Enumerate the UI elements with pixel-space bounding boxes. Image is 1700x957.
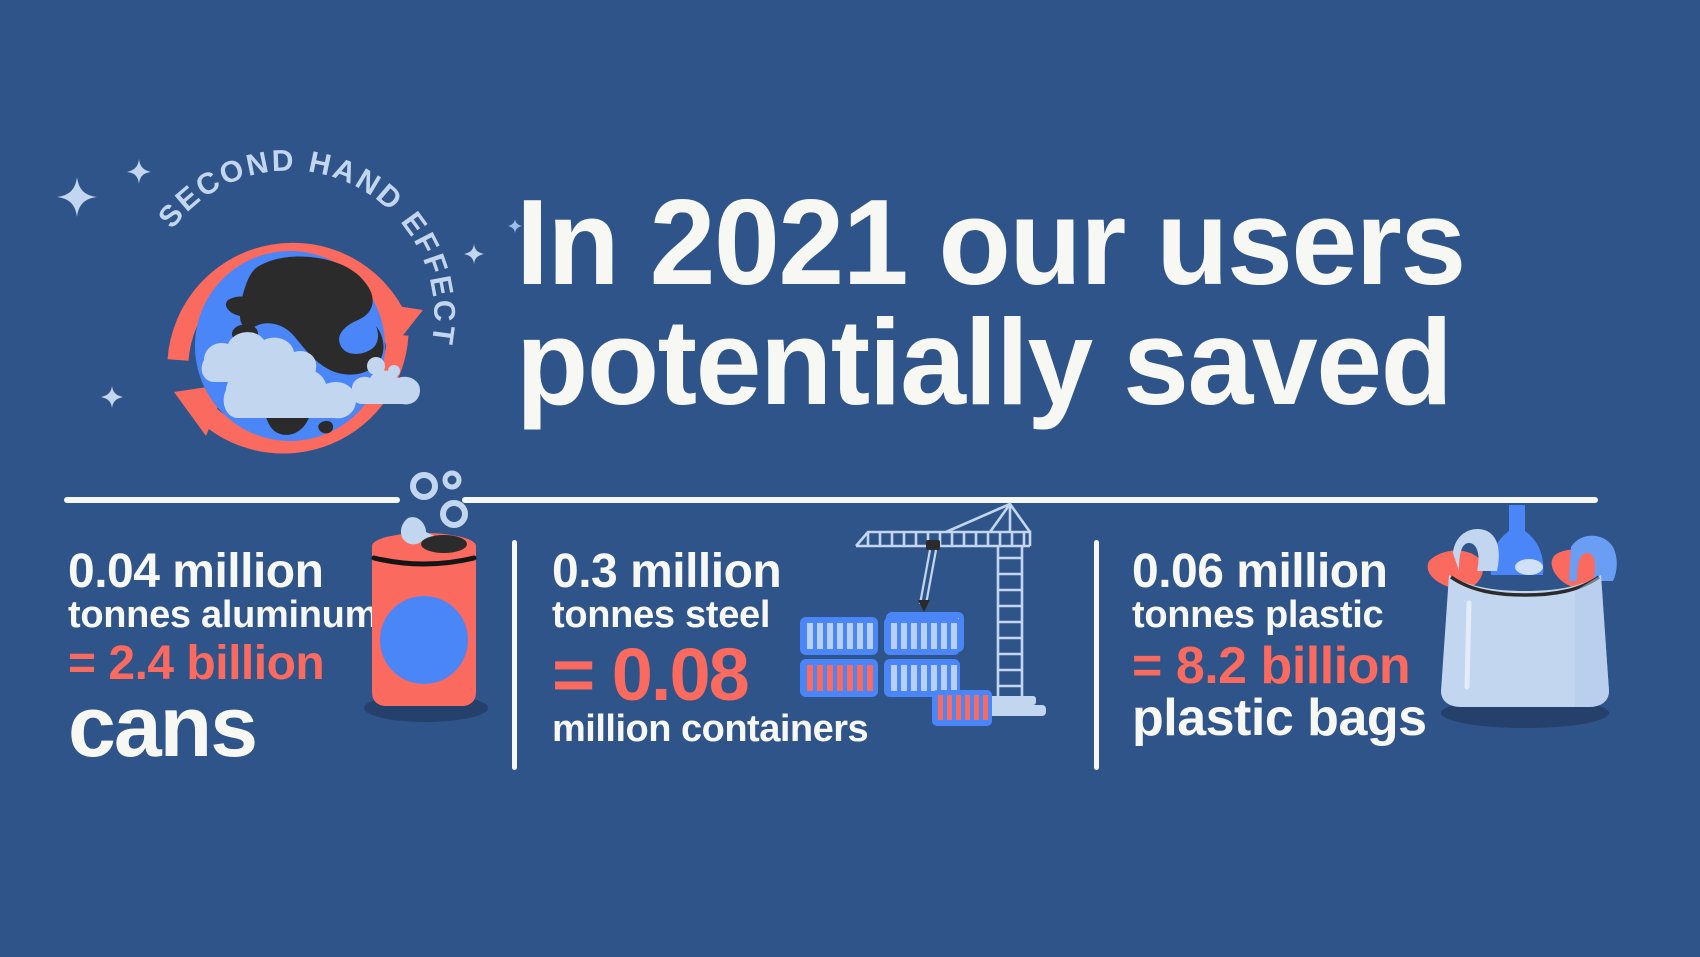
vertical-separator-1 — [512, 540, 517, 770]
stat-unit: plastic bags — [1132, 692, 1427, 744]
shipping-container-coral — [800, 659, 878, 697]
stat-amount: 0.3 million — [552, 548, 868, 596]
shipping-container-coral-small — [932, 690, 996, 734]
stat-amount: 0.06 million — [1132, 548, 1427, 596]
bubble-icon — [445, 473, 459, 487]
horizontal-divider-left — [64, 497, 400, 503]
page-title: In 2021 our users potentially saved — [516, 183, 1583, 422]
stat-equivalent: = 8.2 billion — [1132, 640, 1427, 692]
stat-material: tonnes plastic — [1132, 596, 1427, 636]
logo-svg: SECOND HAND EFFECT — [108, 150, 468, 470]
bubble-icon — [413, 475, 435, 497]
plastic-bag-icon — [1425, 495, 1625, 730]
stat-material: tonnes aluminum — [68, 596, 378, 636]
bubble-icon — [443, 503, 465, 525]
sparkle-icon — [55, 175, 99, 219]
headline-line-2: potentially saved — [516, 303, 1583, 423]
stat-block-aluminum: 0.04 million tonnes aluminum = 2.4 billi… — [68, 548, 378, 770]
can-logo-circle — [380, 596, 468, 684]
shipping-container-blue — [800, 617, 878, 655]
infographic-canvas: SECOND HAND EFFECT In 2021 our users pot… — [0, 0, 1700, 957]
crane-hook — [918, 600, 930, 612]
soda-can-icon — [352, 470, 492, 730]
headline-line-1: In 2021 our users — [516, 183, 1583, 303]
crane-trolley — [926, 540, 940, 550]
stat-unit: cans — [68, 684, 378, 770]
shipping-container-blue — [884, 617, 960, 655]
stat-block-plastic: 0.06 million tonnes plastic = 8.2 billio… — [1132, 548, 1427, 744]
second-hand-effect-logo: SECOND HAND EFFECT — [108, 150, 468, 470]
stat-amount: 0.04 million — [68, 548, 378, 596]
bag-item-bottle — [1491, 505, 1544, 575]
